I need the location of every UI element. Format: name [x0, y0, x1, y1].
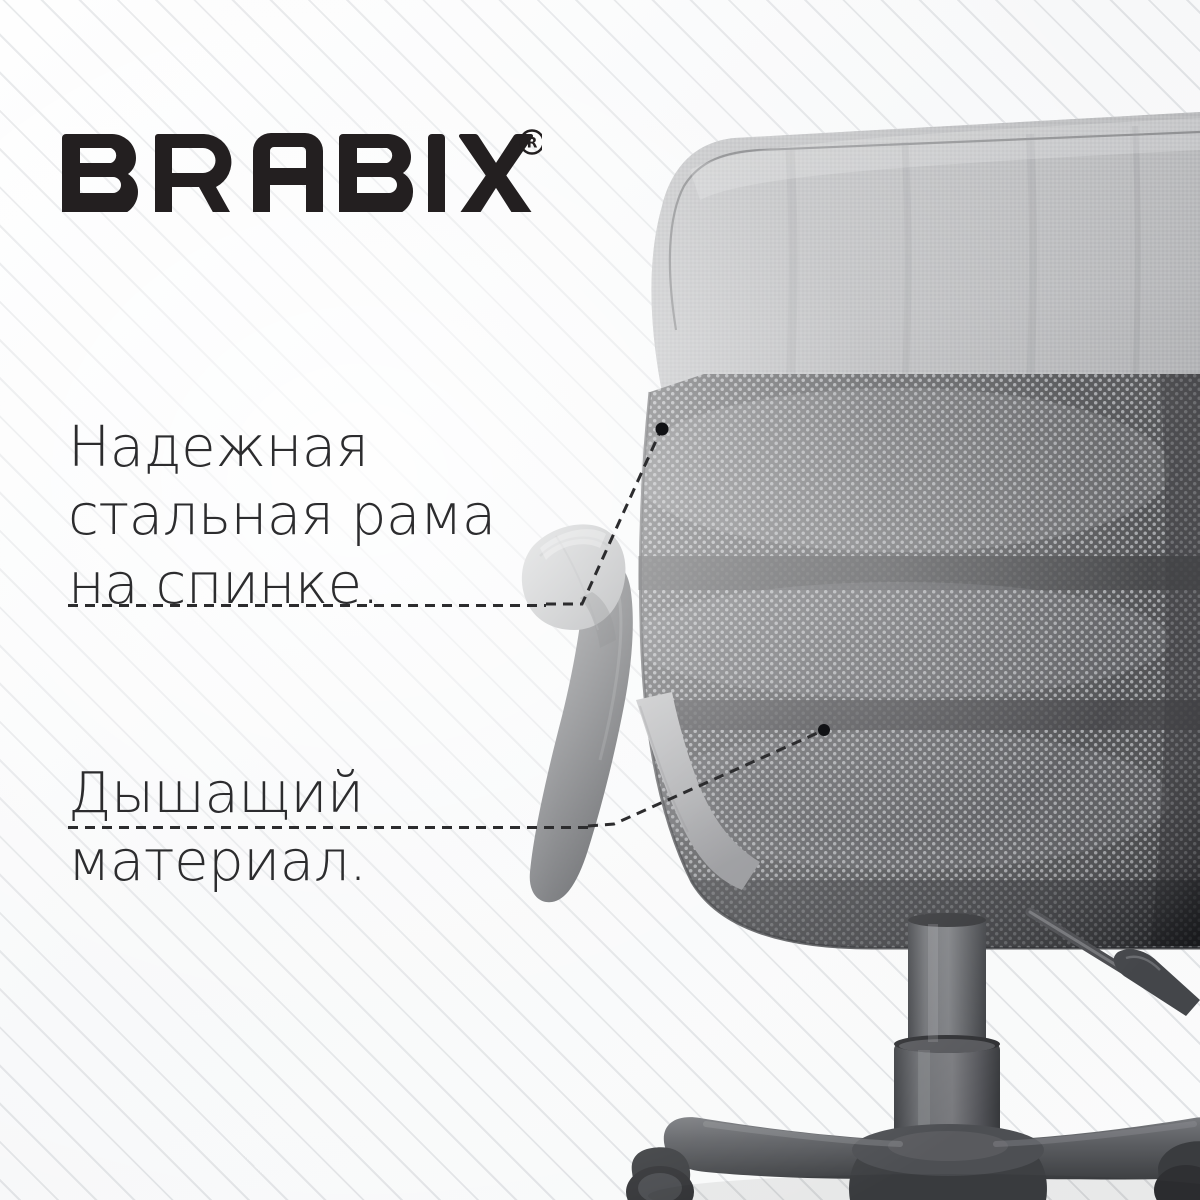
- callout-breathable-material-rule: [68, 826, 588, 829]
- brabix-wordmark: [62, 133, 534, 212]
- callout-steel-frame-text: Надежная стальная рама на спинке.: [68, 414, 538, 619]
- brabix-logo: R: [62, 128, 542, 212]
- callout-steel-frame: Надежная стальная рама на спинке.: [68, 414, 538, 619]
- svg-text:R: R: [527, 136, 538, 152]
- chair-headrest-pad: [651, 112, 1200, 404]
- poster-canvas: R Надежная стальная рама на спинке. Дыша…: [0, 0, 1200, 1200]
- callout-steel-frame-rule: [68, 604, 546, 607]
- chair-mesh-backrest: [600, 360, 1200, 960]
